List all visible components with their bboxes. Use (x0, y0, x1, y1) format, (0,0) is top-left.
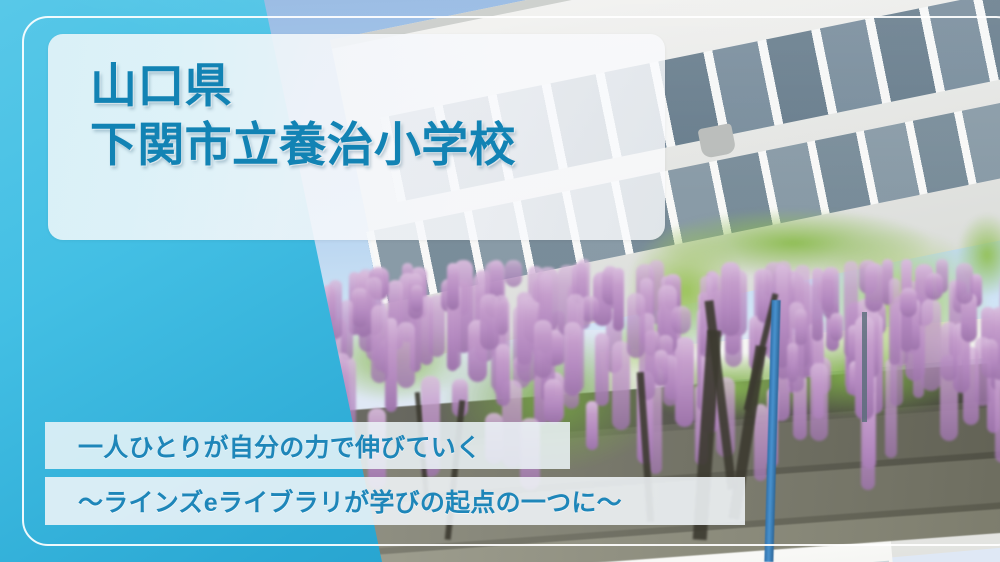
subtitle-bar-primary: 一人ひとりが自分の力で伸びていく (45, 422, 570, 469)
wisteria-raceme (505, 260, 522, 288)
wisteria-raceme (754, 404, 767, 481)
subtitle-bar-secondary: 〜ラインズeライブラリが学びの起点の一つに〜 (45, 477, 745, 525)
wisteria-raceme (889, 278, 900, 365)
title-card: 山口県 下関市立養治小学校 (48, 34, 665, 240)
wisteria-raceme (480, 294, 499, 350)
wisteria-raceme (795, 309, 807, 345)
wisteria-raceme (675, 337, 695, 427)
wisteria-raceme (865, 263, 884, 311)
flagpole (862, 312, 867, 422)
wisteria-raceme (586, 401, 597, 450)
wisteria-raceme (787, 343, 799, 383)
wisteria-raceme (447, 263, 459, 310)
wisteria-raceme (956, 263, 973, 304)
wisteria-raceme (981, 339, 998, 378)
wisteria-raceme (595, 333, 609, 407)
wisteria-raceme (900, 288, 917, 317)
wisteria-raceme (671, 306, 691, 335)
wisteria-raceme (341, 300, 353, 361)
wisteria-raceme (823, 267, 840, 319)
wisteria-raceme (612, 341, 630, 430)
title-line-school: 下関市立養治小学校 (90, 115, 516, 174)
subtitle-text-secondary: 〜ラインズeライブラリが学びの起点の一つに〜 (78, 483, 622, 519)
wisteria-raceme (654, 350, 669, 385)
wisteria-raceme (371, 305, 389, 382)
subtitle-text-primary: 一人ひとりが自分の力で伸びていく (78, 428, 481, 464)
wisteria-raceme (613, 268, 625, 332)
wisteria-raceme (564, 322, 581, 396)
page-title: 山口県 下関市立養治小学校 (90, 56, 516, 174)
wisteria-raceme (810, 363, 828, 441)
wisteria-raceme (830, 313, 843, 341)
wisteria-raceme (397, 322, 414, 389)
wisteria-raceme (721, 262, 740, 336)
wisteria-raceme (534, 320, 553, 378)
title-line-prefecture: 山口県 (90, 56, 516, 115)
wisteria-raceme (921, 299, 941, 392)
wisteria-raceme (925, 273, 943, 301)
wisteria-raceme (496, 344, 510, 406)
wisteria-raceme (544, 379, 562, 421)
title-slide: 山口県 下関市立養治小学校 一人ひとりが自分の力で伸びていく 〜ラインズeライブ… (0, 0, 1000, 562)
wisteria-raceme (411, 285, 423, 312)
wisteria-raceme (627, 293, 645, 359)
wisteria-raceme (941, 322, 957, 382)
